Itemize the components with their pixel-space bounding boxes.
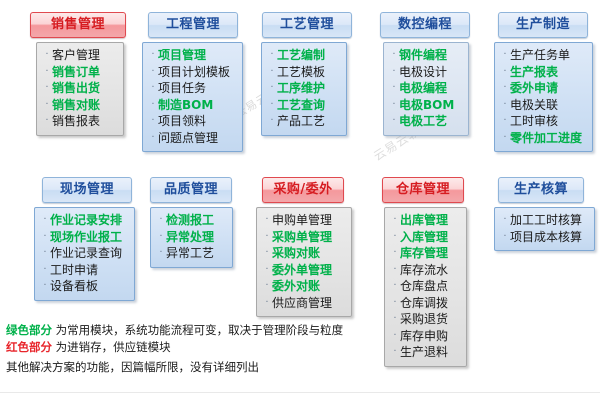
bullet-icon: · <box>390 295 400 312</box>
module-header-quality-management[interactable]: 品质管理 <box>150 177 232 203</box>
module-item-label: 销售订单 <box>52 64 100 81</box>
bullet-icon: · <box>267 80 277 97</box>
legend-note: 其他解决方案的功能，因篇幅所限，没有详细列出 <box>6 360 259 374</box>
bullet-icon: · <box>148 130 158 147</box>
legend-row-green: 绿色部分 为常用模块，系统功能流程可变，取决于管理阶段与粒度 <box>6 322 426 339</box>
module-item-label: 设备看板 <box>50 278 98 295</box>
bullet-icon: · <box>389 64 399 81</box>
module-item[interactable]: ·电极编程 <box>386 80 466 97</box>
module-item-label: 销售报表 <box>52 113 100 130</box>
bullet-icon: · <box>262 295 272 312</box>
module-item-label: 生产任务单 <box>510 47 570 64</box>
module-header-sales-management[interactable]: 销售管理 <box>30 12 126 38</box>
module-item[interactable]: ·销售出货 <box>39 80 121 97</box>
module-item-label: 客户管理 <box>52 47 100 64</box>
module-item-label: 出库管理 <box>400 212 448 229</box>
module-card-quality-management: 品质管理·检测报工·异常处理·异常工艺 <box>150 177 233 268</box>
module-body-engineering-management: ·项目管理·项目计划模板·项目任务·制造BOM·项目领料·问题点管理 <box>142 42 243 152</box>
module-item[interactable]: ·电极工艺 <box>386 113 466 130</box>
module-item-label: 异常处理 <box>166 229 214 246</box>
legend-row-note: 其他解决方案的功能，因篇幅所限，没有详细列出 <box>6 359 426 376</box>
module-item[interactable]: ·委外对账 <box>259 278 349 295</box>
module-item-list-quality-management: ·检测报工·异常处理·异常工艺 <box>153 212 230 262</box>
module-body-production-accounting: ·加工工时核算·项目成本核算 <box>494 207 595 251</box>
module-item-label: 委外对账 <box>272 278 320 295</box>
module-item-list-production-accounting: ·加工工时核算·项目成本核算 <box>497 212 592 245</box>
module-item-label: 委外申请 <box>510 80 558 97</box>
bullet-icon: · <box>500 47 510 64</box>
module-item-label: 产品工艺 <box>277 113 325 130</box>
module-item[interactable]: ·销售报表 <box>39 113 121 130</box>
module-item[interactable]: ·工序维护 <box>264 80 344 97</box>
module-item-label: 销售出货 <box>52 80 100 97</box>
module-card-sales-management: 销售管理·客户管理·销售订单·销售出货·销售对账·销售报表 <box>30 12 126 136</box>
module-item-label: 电极BOM <box>399 97 454 114</box>
module-item-label: 项目成本核算 <box>510 229 582 246</box>
module-item[interactable]: ·工时申请 <box>37 262 132 279</box>
module-item-list-production-manufacturing: ·生产任务单·生产报表·委外申请·电极关联·工时审核·零件加工进度 <box>497 47 590 146</box>
module-item-list-cnc-programming: ·钢件编程·电极设计·电极编程·电极BOM·电极工艺 <box>386 47 466 130</box>
module-card-process-management: 工艺管理·工艺编制·工艺模板·工序维护·工艺查询·产品工艺 <box>262 12 352 136</box>
bullet-icon: · <box>500 212 510 229</box>
module-item-label: 电极编程 <box>399 80 447 97</box>
module-item[interactable]: ·销售订单 <box>39 64 121 81</box>
module-item-label: 制造BOM <box>158 97 213 114</box>
module-item-label: 电极设计 <box>399 64 447 81</box>
bullet-icon: · <box>156 229 166 246</box>
bullet-icon: · <box>40 278 50 295</box>
module-item[interactable]: ·电极BOM <box>386 97 466 114</box>
module-item-label: 异常工艺 <box>166 245 214 262</box>
bullet-icon: · <box>42 80 52 97</box>
module-item-label: 供应商管理 <box>272 295 332 312</box>
module-card-purchasing-outsourcing: 采购/委外·申购单管理·采购单管理·采购对账·委外单管理·委外对账·供应商管理 <box>262 177 352 317</box>
module-item[interactable]: ·电极设计 <box>386 64 466 81</box>
module-item-label: 加工工时核算 <box>510 212 582 229</box>
bullet-icon: · <box>267 47 277 64</box>
module-item-list-shopfloor-management: ·作业记录安排·现场作业报工·作业记录查询·工时申请·设备看板 <box>37 212 132 295</box>
module-item-label: 生产报表 <box>510 64 558 81</box>
bullet-icon: · <box>148 97 158 114</box>
module-card-production-manufacturing: 生产制造·生产任务单·生产报表·委外申请·电极关联·工时审核·零件加工进度 <box>498 12 593 152</box>
module-item-label: 采购单管理 <box>272 229 332 246</box>
bullet-icon: · <box>156 245 166 262</box>
bullet-icon: · <box>390 262 400 279</box>
module-item-label: 工时审核 <box>510 113 558 130</box>
module-item-label: 工艺编制 <box>277 47 325 64</box>
module-header-engineering-management[interactable]: 工程管理 <box>148 12 238 38</box>
bullet-icon: · <box>148 47 158 64</box>
module-item-label: 电极关联 <box>510 97 558 114</box>
module-item-label: 入库管理 <box>400 229 448 246</box>
bullet-icon: · <box>500 130 510 147</box>
bullet-icon: · <box>42 64 52 81</box>
module-item[interactable]: ·工艺编制 <box>264 47 344 64</box>
bullet-icon: · <box>500 229 510 246</box>
module-item[interactable]: ·入库管理 <box>387 229 464 246</box>
bullet-icon: · <box>500 64 510 81</box>
module-body-sales-management: ·客户管理·销售订单·销售出货·销售对账·销售报表 <box>36 42 124 136</box>
module-item[interactable]: ·生产任务单 <box>497 47 590 64</box>
module-item[interactable]: ·生产报表 <box>497 64 590 81</box>
module-header-purchasing-outsourcing[interactable]: 采购/委外 <box>262 177 344 203</box>
diagram-canvas: 云易云软件 云易云软件 销售管理·客户管理·销售订单·销售出货·销售对账·销售报… <box>0 0 600 400</box>
module-item-label: 工艺查询 <box>277 97 325 114</box>
module-header-process-management[interactable]: 工艺管理 <box>262 12 352 38</box>
module-body-purchasing-outsourcing: ·申购单管理·采购单管理·采购对账·委外单管理·委外对账·供应商管理 <box>256 207 352 317</box>
module-item-label: 委外单管理 <box>272 262 332 279</box>
module-item[interactable]: ·产品工艺 <box>264 113 344 130</box>
module-item[interactable]: ·项目成本核算 <box>497 229 592 246</box>
module-item[interactable]: ·项目计划模板 <box>145 64 240 81</box>
bullet-icon: · <box>148 80 158 97</box>
bullet-icon: · <box>42 113 52 130</box>
module-item-label: 工序维护 <box>277 80 325 97</box>
module-header-cnc-programming[interactable]: 数控编程 <box>380 12 470 38</box>
bullet-icon: · <box>500 97 510 114</box>
module-item[interactable]: ·零件加工进度 <box>497 130 590 147</box>
bottom-divider <box>0 392 600 393</box>
bullet-icon: · <box>262 262 272 279</box>
module-item[interactable]: ·设备看板 <box>37 278 132 295</box>
legend-red-tag: 红色部分 <box>6 340 52 354</box>
module-header-warehouse-management[interactable]: 仓库管理 <box>382 177 464 203</box>
module-item[interactable]: ·制造BOM <box>145 97 240 114</box>
module-header-shopfloor-management[interactable]: 现场管理 <box>42 177 132 203</box>
bullet-icon: · <box>262 278 272 295</box>
module-item[interactable]: ·检测报工 <box>153 212 230 229</box>
module-item[interactable]: ·采购对账 <box>259 245 349 262</box>
module-body-cnc-programming: ·钢件编程·电极设计·电极编程·电极BOM·电极工艺 <box>383 42 469 136</box>
bullet-icon: · <box>40 229 50 246</box>
module-item-label: 工时申请 <box>50 262 98 279</box>
bullet-icon: · <box>267 97 277 114</box>
legend-green-tag: 绿色部分 <box>6 323 52 337</box>
module-item[interactable]: ·客户管理 <box>39 47 121 64</box>
legend: 绿色部分 为常用模块，系统功能流程可变，取决于管理阶段与粒度 红色部分 为进销存… <box>6 322 426 376</box>
bullet-icon: · <box>40 245 50 262</box>
module-item[interactable]: ·工艺查询 <box>264 97 344 114</box>
bullet-icon: · <box>148 113 158 130</box>
bullet-icon: · <box>40 262 50 279</box>
module-item[interactable]: ·工艺模板 <box>264 64 344 81</box>
legend-red-desc: 为进销存，供应链模块 <box>56 340 171 354</box>
module-item[interactable]: ·委外申请 <box>497 80 590 97</box>
module-item-label: 库存流水 <box>400 262 448 279</box>
bullet-icon: · <box>267 64 277 81</box>
module-item-label: 检测报工 <box>166 212 214 229</box>
module-item-label: 采购对账 <box>272 245 320 262</box>
module-item[interactable]: ·现场作业报工 <box>37 229 132 246</box>
module-item-label: 问题点管理 <box>158 130 218 147</box>
module-item[interactable]: ·库存管理 <box>387 245 464 262</box>
bullet-icon: · <box>390 212 400 229</box>
bullet-icon: · <box>500 80 510 97</box>
module-item-label: 项目管理 <box>158 47 206 64</box>
module-item[interactable]: ·项目领料 <box>145 113 240 130</box>
module-item-label: 申购单管理 <box>272 212 332 229</box>
module-item[interactable]: ·出库管理 <box>387 212 464 229</box>
module-body-shopfloor-management: ·作业记录安排·现场作业报工·作业记录查询·工时申请·设备看板 <box>34 207 135 301</box>
module-item-list-purchasing-outsourcing: ·申购单管理·采购单管理·采购对账·委外单管理·委外对账·供应商管理 <box>259 212 349 311</box>
module-item-label: 现场作业报工 <box>50 229 122 246</box>
module-item[interactable]: ·作业记录安排 <box>37 212 132 229</box>
module-item-list-sales-management: ·客户管理·销售订单·销售出货·销售对账·销售报表 <box>39 47 121 130</box>
bullet-icon: · <box>500 113 510 130</box>
module-item[interactable]: ·库存流水 <box>387 262 464 279</box>
module-item[interactable]: ·项目任务 <box>145 80 240 97</box>
module-body-quality-management: ·检测报工·异常处理·异常工艺 <box>150 207 233 268</box>
bullet-icon: · <box>389 80 399 97</box>
module-item[interactable]: ·问题点管理 <box>145 130 240 147</box>
module-item[interactable]: ·异常工艺 <box>153 245 230 262</box>
bullet-icon: · <box>390 278 400 295</box>
bullet-icon: · <box>156 212 166 229</box>
bullet-icon: · <box>389 47 399 64</box>
module-item-label: 仓库调拨 <box>400 295 448 312</box>
module-item[interactable]: ·加工工时核算 <box>497 212 592 229</box>
module-item-label: 项目领料 <box>158 113 206 130</box>
module-item-label: 仓库盘点 <box>400 278 448 295</box>
module-item[interactable]: ·委外单管理 <box>259 262 349 279</box>
module-item-label: 工艺模板 <box>277 64 325 81</box>
legend-row-red: 红色部分 为进销存，供应链模块 <box>6 339 426 356</box>
bullet-icon: · <box>267 113 277 130</box>
module-item[interactable]: ·销售对账 <box>39 97 121 114</box>
module-card-engineering-management: 工程管理·项目管理·项目计划模板·项目任务·制造BOM·项目领料·问题点管理 <box>148 12 243 152</box>
module-item[interactable]: ·钢件编程 <box>386 47 466 64</box>
bullet-icon: · <box>390 245 400 262</box>
module-item[interactable]: ·作业记录查询 <box>37 245 132 262</box>
module-item[interactable]: ·仓库调拨 <box>387 295 464 312</box>
bullet-icon: · <box>389 97 399 114</box>
module-item[interactable]: ·供应商管理 <box>259 295 349 312</box>
module-body-process-management: ·工艺编制·工艺模板·工序维护·工艺查询·产品工艺 <box>261 42 347 136</box>
module-item-label: 钢件编程 <box>399 47 447 64</box>
bullet-icon: · <box>42 47 52 64</box>
module-item[interactable]: ·项目管理 <box>145 47 240 64</box>
module-item[interactable]: ·电极关联 <box>497 97 590 114</box>
bullet-icon: · <box>40 212 50 229</box>
module-item-label: 项目任务 <box>158 80 206 97</box>
bullet-icon: · <box>42 97 52 114</box>
module-item-label: 项目计划模板 <box>158 64 230 81</box>
module-item-label: 销售对账 <box>52 97 100 114</box>
legend-green-desc: 为常用模块，系统功能流程可变，取决于管理阶段与粒度 <box>56 323 344 337</box>
bullet-icon: · <box>262 245 272 262</box>
module-body-production-manufacturing: ·生产任务单·生产报表·委外申请·电极关联·工时审核·零件加工进度 <box>494 42 593 152</box>
module-card-production-accounting: 生产核算·加工工时核算·项目成本核算 <box>498 177 595 251</box>
module-card-shopfloor-management: 现场管理·作业记录安排·现场作业报工·作业记录查询·工时申请·设备看板 <box>42 177 135 301</box>
module-item-label: 零件加工进度 <box>510 130 582 147</box>
module-item-label: 作业记录查询 <box>50 245 122 262</box>
module-card-cnc-programming: 数控编程·钢件编程·电极设计·电极编程·电极BOM·电极工艺 <box>380 12 470 136</box>
bullet-icon: · <box>389 113 399 130</box>
module-header-production-accounting[interactable]: 生产核算 <box>498 177 584 203</box>
bullet-icon: · <box>390 229 400 246</box>
module-item[interactable]: ·申购单管理 <box>259 212 349 229</box>
bullet-icon: · <box>262 229 272 246</box>
module-item[interactable]: ·仓库盘点 <box>387 278 464 295</box>
bullet-icon: · <box>148 64 158 81</box>
module-item-list-process-management: ·工艺编制·工艺模板·工序维护·工艺查询·产品工艺 <box>264 47 344 130</box>
module-item[interactable]: ·异常处理 <box>153 229 230 246</box>
module-item-label: 作业记录安排 <box>50 212 122 229</box>
bullet-icon: · <box>262 212 272 229</box>
module-item[interactable]: ·采购单管理 <box>259 229 349 246</box>
module-item-label: 电极工艺 <box>399 113 447 130</box>
module-item[interactable]: ·工时审核 <box>497 113 590 130</box>
module-header-production-manufacturing[interactable]: 生产制造 <box>498 12 588 38</box>
module-item-list-engineering-management: ·项目管理·项目计划模板·项目任务·制造BOM·项目领料·问题点管理 <box>145 47 240 146</box>
module-item-label: 库存管理 <box>400 245 448 262</box>
